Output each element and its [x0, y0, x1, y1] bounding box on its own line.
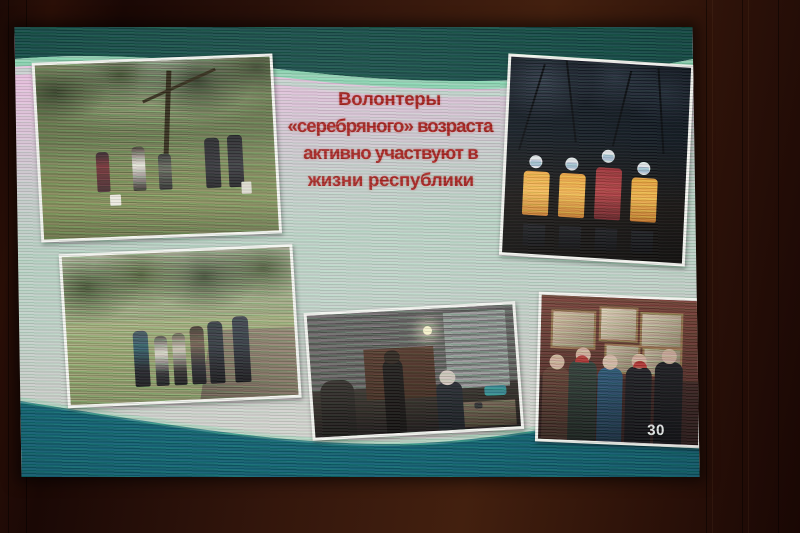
projection-room: Волонтеры «серебряного» возраста активно… [0, 0, 800, 533]
photo-park-group [59, 244, 302, 408]
presentation-slide: Волонтеры «серебряного» возраста активно… [14, 27, 699, 477]
slide-title-line-1: Волонтеры [265, 85, 513, 112]
slide-page-number: 30 [647, 422, 665, 439]
slide-title-line-4: жизни республики [267, 166, 515, 193]
wall-plank-seam [8, 0, 9, 533]
photo-indoor-room [304, 301, 525, 441]
wall-plank-seam [748, 0, 749, 533]
photo-museum-group [535, 292, 700, 449]
projection-screen: Волонтеры «серебряного» возраста активно… [14, 27, 699, 477]
wall-plank-seam [706, 0, 707, 533]
photo-night-hivis [499, 53, 694, 266]
wall-plank-seam [742, 0, 743, 533]
photo-orchard-planting [32, 53, 282, 242]
wall-plank-seam [778, 0, 779, 533]
slide-title-line-2: «серебряного» возраста [266, 112, 514, 139]
slide-title-line-3: активно участвуют в [266, 139, 514, 166]
wall-plank-seam [712, 0, 713, 533]
slide-title: Волонтеры «серебряного» возраста активно… [265, 85, 515, 193]
